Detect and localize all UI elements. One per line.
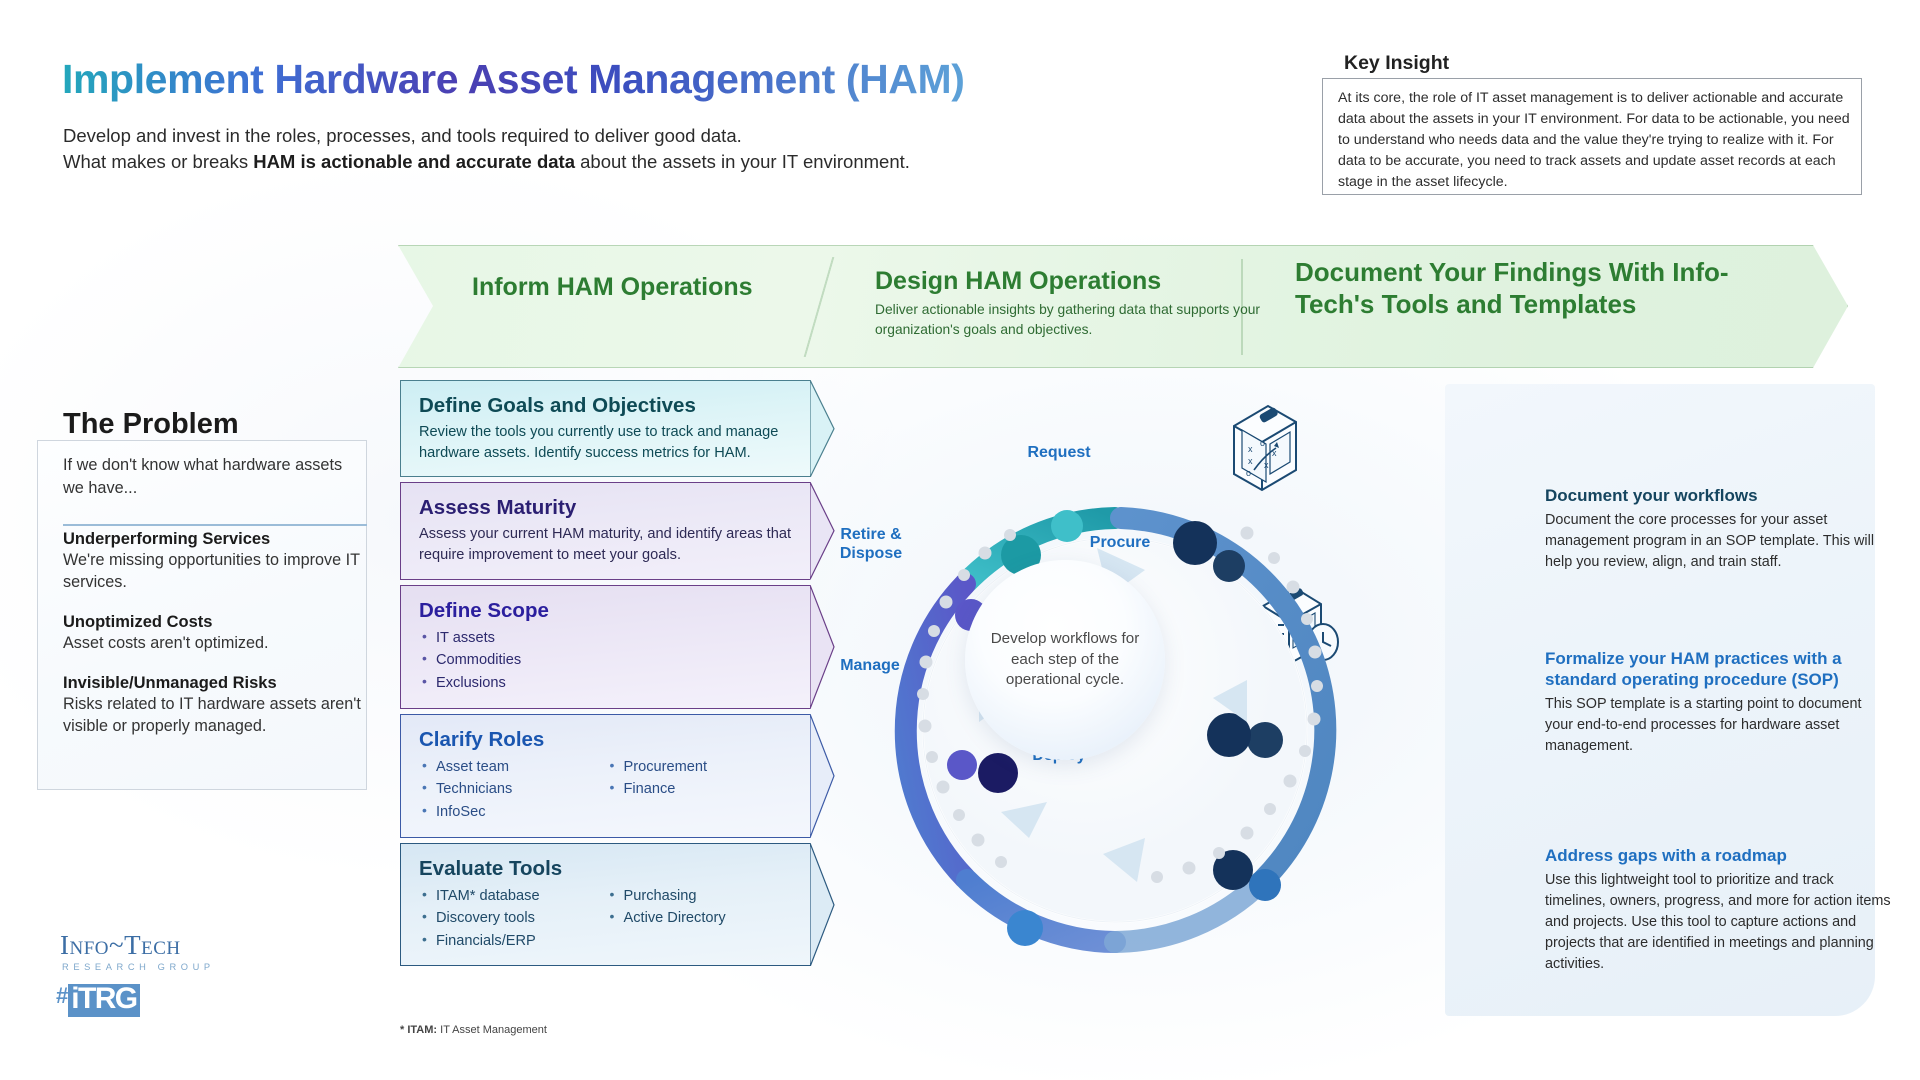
page-title: Implement Hardware Asset Management (HAM… — [62, 56, 965, 103]
right-panel-body-1: This SOP template is a starting point to… — [1545, 694, 1893, 757]
activity-card-bullet: Procurement — [607, 756, 795, 779]
activity-card-bullet: IT assets — [419, 627, 607, 650]
activity-card-heading: Clarify Roles — [419, 727, 794, 752]
activity-card-bullet: Purchasing — [607, 885, 795, 908]
subtitle-line-2: What makes or breaks HAM is actionable a… — [63, 149, 910, 175]
activity-card-bullet-column: IT assetsCommoditiesExclusions — [419, 627, 607, 695]
problem-item: Unoptimized CostsAsset costs aren't opti… — [63, 611, 373, 655]
problem-item: Underperforming ServicesWe're missing op… — [63, 528, 373, 594]
right-panel-body-0: Document the core processes for your ass… — [1545, 510, 1893, 573]
stage-banner: Inform HAM Operations Design HAM Operati… — [398, 245, 1848, 368]
activity-card-body: Assess your current HAM maturity, and id… — [419, 524, 794, 565]
problem-title: The Problem — [63, 408, 239, 441]
activity-card-bullet: Discovery tools — [419, 907, 607, 930]
activity-card-body: Review the tools you currently use to tr… — [419, 422, 794, 463]
banner-stage-3: Document Your Findings With Info-Tech's … — [1295, 257, 1735, 321]
activity-card-heading: Assess Maturity — [419, 495, 794, 520]
info-tech-logo-tagline: RESEARCH GROUP — [62, 962, 215, 972]
activity-card-bullet: Technicians — [419, 778, 607, 801]
activity-card-bullet: InfoSec — [419, 801, 607, 824]
itrg-hash-symbol: # — [56, 985, 68, 1007]
right-panel-block-2: Address gaps with a roadmap Use this lig… — [1545, 845, 1893, 974]
activity-card-bullets: ITAM* databaseDiscovery toolsFinancials/… — [419, 885, 794, 953]
problem-item-heading: Underperforming Services — [63, 528, 373, 550]
wheel-stage-procure: Procure — [1060, 533, 1180, 552]
right-panel-block-1: Formalize your HAM practices with a stan… — [1545, 648, 1893, 757]
activity-card-evaluate-tools[interactable]: Evaluate ToolsITAM* databaseDiscovery to… — [400, 843, 810, 967]
problem-lead: If we don't know what hardware assets we… — [63, 454, 363, 500]
problem-item-heading: Unoptimized Costs — [63, 611, 373, 633]
problem-item-list: Underperforming ServicesWe're missing op… — [63, 528, 373, 755]
right-panel-heading-2: Address gaps with a roadmap — [1545, 845, 1893, 866]
subtitle-pre: What makes or breaks — [63, 151, 253, 172]
activity-card-define-scope[interactable]: Define ScopeIT assetsCommoditiesExclusio… — [400, 585, 810, 709]
problem-item-body: We're missing opportunities to improve I… — [63, 550, 373, 594]
footnote-abbr: * ITAM: — [400, 1024, 437, 1036]
activity-card-define-goals[interactable]: Define Goals and ObjectivesReview the to… — [400, 380, 810, 477]
activity-card-heading: Define Scope — [419, 598, 794, 623]
activity-card-bullets: Asset teamTechniciansInfoSecProcurementF… — [419, 756, 794, 824]
activity-card-assess-maturity[interactable]: Assess MaturityAssess your current HAM m… — [400, 482, 810, 579]
right-panel-block-0: Document your workflows Document the cor… — [1545, 485, 1893, 573]
wheel-center-bubble: Develop workflows for each step of the o… — [965, 560, 1165, 760]
problem-item-heading: Invisible/Unmanaged Risks — [63, 672, 373, 694]
itrg-wordmark: iTRG — [68, 984, 139, 1017]
problem-item: Invisible/Unmanaged RisksRisks related t… — [63, 672, 373, 738]
problem-item-body: Asset costs aren't optimized. — [63, 633, 373, 655]
subtitle-line-1: Develop and invest in the roles, process… — [63, 123, 910, 149]
banner-stage-2-subtitle: Deliver actionable insights by gathering… — [875, 300, 1275, 339]
info-tech-logo: Info~Tech RESEARCH GROUP — [60, 930, 215, 972]
key-insight-body: At its core, the role of IT asset manage… — [1338, 88, 1852, 192]
activity-card-bullet: Commodities — [419, 649, 607, 672]
activity-card-bullet-column: Asset teamTechniciansInfoSec — [419, 756, 607, 824]
activity-card-bullet: Exclusions — [419, 672, 607, 695]
activity-card-bullet: ITAM* database — [419, 885, 607, 908]
activity-card-bullets: IT assetsCommoditiesExclusions — [419, 627, 794, 695]
itam-footnote: * ITAM: IT Asset Management — [400, 1024, 547, 1036]
activity-card-bullet-column: ProcurementFinance — [607, 756, 795, 824]
right-panel-body-2: Use this lightweight tool to prioritize … — [1545, 870, 1893, 974]
itrg-logo: # iTRG — [56, 984, 140, 1017]
activity-card-bullet-column: PurchasingActive Directory — [607, 885, 795, 953]
activity-card-bullet-column: ITAM* databaseDiscovery toolsFinancials/… — [419, 885, 607, 953]
key-insight-title: Key Insight — [1344, 52, 1449, 75]
page-subtitle: Develop and invest in the roles, process… — [63, 123, 910, 176]
problem-item-body: Risks related to IT hardware assets aren… — [63, 694, 373, 738]
activity-card-bullet: Asset team — [419, 756, 607, 779]
activity-card-heading: Evaluate Tools — [419, 856, 794, 881]
activity-card-stack: Define Goals and ObjectivesReview the to… — [400, 380, 855, 971]
right-panel-heading-0: Document your workflows — [1545, 485, 1893, 506]
activity-card-bullet: Finance — [607, 778, 795, 801]
subtitle-post: about the assets in your IT environment. — [575, 151, 910, 172]
subtitle-bold: HAM is actionable and accurate data — [253, 151, 575, 172]
footnote-text: IT Asset Management — [437, 1024, 547, 1036]
banner-stage-1: Inform HAM Operations — [472, 272, 772, 302]
activity-card-heading: Define Goals and Objectives — [419, 393, 794, 418]
wheel-center-text: Develop workflows for each step of the o… — [985, 629, 1145, 691]
lifecycle-wheel: Request Procure Receive Deploy Manage Re… — [815, 430, 1415, 1030]
wheel-stage-request: Request — [999, 443, 1119, 462]
info-tech-logo-wordmark: Info~Tech — [60, 930, 215, 961]
activity-card-clarify-roles[interactable]: Clarify RolesAsset teamTechniciansInfoSe… — [400, 714, 810, 838]
right-panel-heading-1: Formalize your HAM practices with a stan… — [1545, 648, 1893, 690]
problem-divider — [63, 524, 367, 526]
banner-stage-2-title: Design HAM Operations — [875, 267, 1161, 296]
activity-card-bullet: Active Directory — [607, 907, 795, 930]
wheel-stage-retire-dispose: Retire & Dispose — [811, 525, 931, 563]
wheel-stage-manage: Manage — [810, 656, 930, 675]
activity-card-bullet: Financials/ERP — [419, 930, 607, 953]
